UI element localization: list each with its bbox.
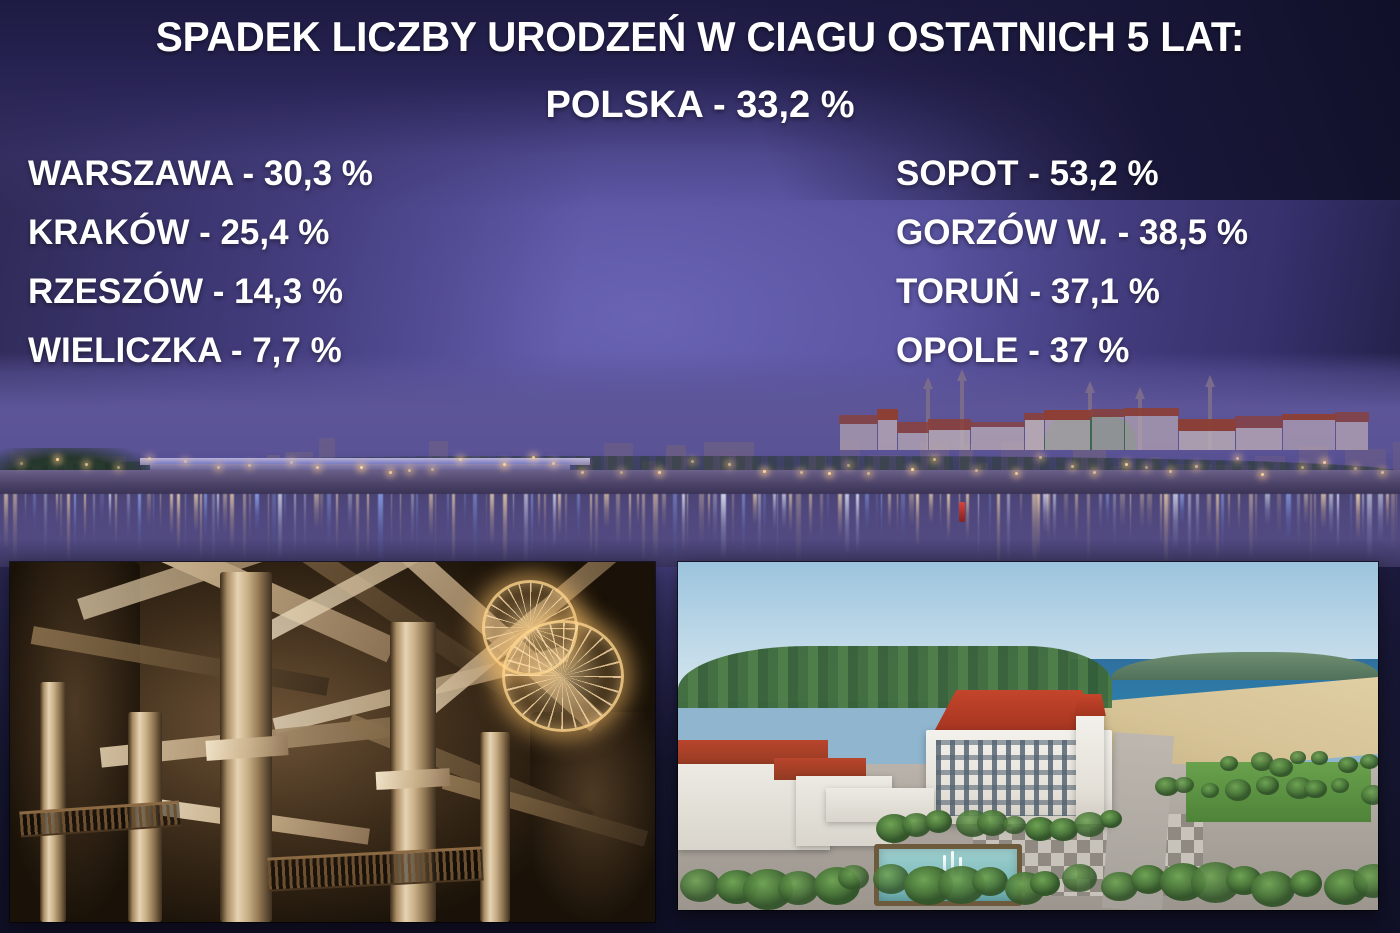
old-town-facade <box>1336 422 1367 450</box>
old-town-facade <box>1045 420 1091 450</box>
old-town-roof <box>1335 412 1368 423</box>
sopot-tree <box>1220 756 1238 771</box>
old-town-roof <box>1282 414 1336 419</box>
old-town-facade <box>1236 428 1282 450</box>
old-town-roof <box>1124 408 1179 416</box>
street-lamp <box>20 462 23 465</box>
sopot-tree <box>1361 785 1378 805</box>
sopot-tree <box>1311 751 1328 765</box>
panorama-old-town-silhouette <box>838 372 1358 450</box>
stat-krakow: KRAKÓW - 25,4 % <box>28 203 588 262</box>
mine-chandelier-spokes <box>505 623 621 729</box>
stat-opole: OPOLE - 37 % <box>896 321 1396 380</box>
old-town-roof <box>1044 410 1092 419</box>
sopot-tree <box>1062 864 1097 892</box>
sopot-tree <box>1290 751 1306 764</box>
mine-timber-column <box>40 682 66 922</box>
sopot-tree <box>1269 758 1293 777</box>
street-lamp <box>658 471 661 474</box>
old-town-facade <box>898 433 928 450</box>
old-town-roof <box>1178 419 1236 431</box>
street-lamp <box>408 469 411 472</box>
old-town-roof <box>1091 409 1125 417</box>
mine-timber-column <box>480 732 510 922</box>
stat-wieliczka: WIELICZKA - 7,7 % <box>28 321 588 380</box>
street-lamp <box>691 460 694 463</box>
sopot-tree <box>972 867 1007 896</box>
sopot-tree <box>1360 754 1378 769</box>
old-town-roof <box>1024 413 1045 421</box>
sopot-tree <box>680 869 720 902</box>
street-lamp <box>217 466 220 469</box>
street-lamp <box>1093 471 1096 474</box>
street-lamp <box>911 468 914 471</box>
stat-warszawa: WARSZAWA - 30,3 % <box>28 144 588 203</box>
street-lamp <box>1169 470 1172 473</box>
old-town-facade <box>840 424 877 450</box>
slide-root: SPADEK LICZBY URODZEŃ W CIAGU OSTATNICH … <box>0 0 1400 933</box>
old-town-facade <box>971 427 1024 450</box>
old-town-roof <box>839 415 878 423</box>
street-lamp <box>1301 466 1304 469</box>
street-lamp <box>847 464 850 467</box>
old-town-roof <box>897 422 929 433</box>
street-lamp <box>1125 463 1128 466</box>
street-lamp <box>552 462 555 465</box>
street-lamp <box>316 466 319 469</box>
stats-column-right: SOPOT - 53,2 % GORZÓW W. - 38,5 % TORUŃ … <box>896 144 1396 380</box>
stat-gorzow: GORZÓW W. - 38,5 % <box>896 203 1396 262</box>
old-town-roof <box>1235 416 1283 428</box>
street-lamp <box>933 458 936 461</box>
sopot-tree <box>1003 816 1026 834</box>
stats-column-left: WARSZAWA - 30,3 % KRAKÓW - 25,4 % RZESZÓ… <box>28 144 588 380</box>
sopot-tree <box>1225 779 1251 800</box>
sopot-tree <box>1030 871 1060 896</box>
national-statistic: POLSKA - 33,2 % <box>0 86 1400 126</box>
sopot-tree <box>838 865 869 890</box>
old-town-facade <box>1025 420 1044 450</box>
old-town-roof <box>928 419 971 430</box>
sopot-tree <box>1256 776 1279 795</box>
sopot-grand-hotel-photo <box>678 562 1378 910</box>
page-title: SPADEK LICZBY URODZEŃ W CIAGU OSTATNICH … <box>25 16 1376 59</box>
old-town-facade <box>1125 416 1178 450</box>
sopot-tree <box>1251 871 1295 907</box>
street-lamp <box>532 456 535 459</box>
sopot-tree <box>1338 757 1358 774</box>
street-lamp <box>581 471 584 474</box>
grand-hotel-tower <box>1076 712 1104 824</box>
street-lamp <box>800 471 803 474</box>
old-town-facade <box>878 420 897 450</box>
sopot-tree <box>925 810 952 832</box>
old-town-facade <box>1283 420 1335 450</box>
street-lamp <box>389 471 392 474</box>
mine-chandelier-lower <box>502 620 624 732</box>
sopot-tree <box>1174 777 1194 793</box>
stat-rzeszow: RZESZÓW - 14,3 % <box>28 262 588 321</box>
sopot-tree <box>1201 783 1219 798</box>
old-town-facade <box>1179 431 1235 450</box>
street-lamp <box>248 464 251 467</box>
stat-sopot: SOPOT - 53,2 % <box>896 144 1396 203</box>
street-lamp <box>1354 467 1357 470</box>
old-town-facade <box>1092 417 1124 450</box>
old-town-roof <box>970 422 1025 427</box>
old-town-roof <box>877 409 898 421</box>
old-town-facade <box>929 430 970 450</box>
mine-rock-wall <box>10 562 140 922</box>
street-lamp <box>1261 473 1264 476</box>
stat-torun: TORUŃ - 37,1 % <box>896 262 1396 321</box>
street-lamp <box>1015 472 1018 475</box>
sopot-tree <box>873 864 909 893</box>
wieliczka-salt-mine-photo <box>10 562 655 922</box>
panorama-quay <box>0 470 1400 494</box>
